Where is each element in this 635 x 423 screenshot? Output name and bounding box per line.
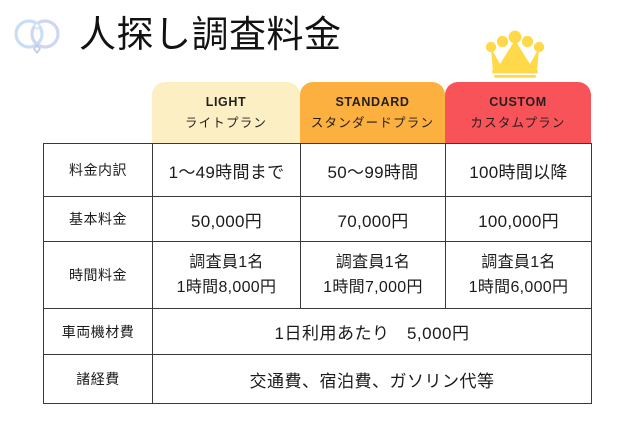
cell-breakdown-light: 1〜49時間まで [153, 144, 301, 197]
row-label-hourly-fee: 時間料金 [44, 242, 153, 309]
plan-header-row: LIGHT ライトプラン STANDARD スタンダードプラン CUSTOM カ… [0, 82, 635, 144]
cell-hourly-fee-standard: 調査員1名 1時間7,000円 [301, 242, 446, 309]
cell-base-fee-custom: 100,000円 [446, 197, 592, 242]
plan-header-light[interactable]: LIGHT ライトプラン [152, 82, 300, 144]
plan-header-custom[interactable]: CUSTOM カスタムプラン [445, 82, 591, 144]
plan-name-custom: カスタムプラン [470, 113, 565, 133]
table-row: 車両機材費 1日利用あたり 5,000円 [44, 309, 592, 355]
cell-base-fee-light: 50,000円 [153, 197, 301, 242]
cell-vehicle-equipment-all: 1日利用あたり 5,000円 [153, 309, 592, 355]
cell-hourly-fee-custom: 調査員1名 1時間6,000円 [446, 242, 592, 309]
plan-code-standard: STANDARD [335, 93, 409, 111]
plan-code-custom: CUSTOM [489, 93, 547, 111]
table-row: 基本料金 50,000円 70,000円 100,000円 [44, 197, 592, 242]
cell-base-fee-standard: 70,000円 [301, 197, 446, 242]
plan-header-standard[interactable]: STANDARD スタンダードプラン [300, 82, 445, 144]
plan-code-light: LIGHT [206, 93, 247, 111]
page-title: 人探し調査料金 [79, 11, 342, 59]
plan-name-light: ライトプラン [185, 113, 267, 133]
cell-hourly-fee-light-line2: 1時間8,000円 [153, 275, 300, 300]
cell-hourly-fee-standard-line2: 1時間7,000円 [301, 275, 445, 300]
cell-hourly-fee-light-line1: 調査員1名 [153, 250, 300, 275]
row-label-vehicle-equipment: 車両機材費 [44, 309, 153, 355]
cell-hourly-fee-custom-line2: 1時間6,000円 [446, 275, 591, 300]
table-row: 諸経費 交通費、宿泊費、ガソリン代等 [44, 355, 592, 404]
row-label-misc-expenses: 諸経費 [44, 355, 153, 404]
table-row: 料金内訳 1〜49時間まで 50〜99時間 100時間以降 [44, 144, 592, 197]
cell-hourly-fee-custom-line1: 調査員1名 [446, 250, 591, 275]
cell-breakdown-custom: 100時間以降 [446, 144, 592, 197]
cell-misc-expenses-all: 交通費、宿泊費、ガソリン代等 [153, 355, 592, 404]
cell-hourly-fee-light: 調査員1名 1時間8,000円 [153, 242, 301, 309]
interlocking-rings-logo-icon [8, 6, 66, 64]
row-label-breakdown: 料金内訳 [44, 144, 153, 197]
cell-breakdown-standard: 50〜99時間 [301, 144, 446, 197]
crown-icon [483, 28, 547, 80]
pricing-table: 料金内訳 1〜49時間まで 50〜99時間 100時間以降 基本料金 50,00… [43, 143, 592, 404]
plan-name-standard: スタンダードプラン [311, 113, 434, 133]
table-row: 時間料金 調査員1名 1時間8,000円 調査員1名 1時間7,000円 調査員… [44, 242, 592, 309]
cell-hourly-fee-standard-line1: 調査員1名 [301, 250, 445, 275]
row-label-base-fee: 基本料金 [44, 197, 153, 242]
